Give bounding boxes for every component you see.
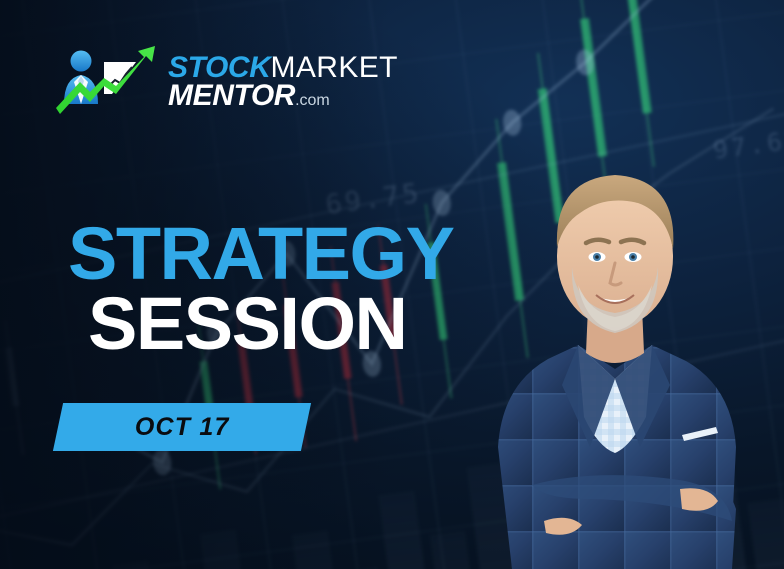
headline-line-session: SESSION	[88, 292, 453, 356]
headline-line-strategy: STRATEGY	[68, 222, 453, 286]
date-badge-label: OCT 17	[135, 413, 230, 442]
brand-logo[interactable]: STOCKMARKET MENTOR.com	[54, 42, 398, 120]
presenter-photo	[440, 117, 784, 569]
date-badge[interactable]: OCT 17	[53, 403, 311, 451]
strategy-session-promo-banner: 2021 2020 21 69.75 97.62	[0, 0, 784, 569]
stock-market-mentor-logo-icon	[54, 42, 162, 120]
brand-word-mentor: MENTOR	[168, 79, 295, 112]
brand-word-dotcom: .com	[295, 92, 330, 109]
brand-logo-wordmark: STOCKMARKET MENTOR.com	[168, 52, 398, 109]
headline-block: STRATEGY SESSION	[68, 222, 453, 355]
